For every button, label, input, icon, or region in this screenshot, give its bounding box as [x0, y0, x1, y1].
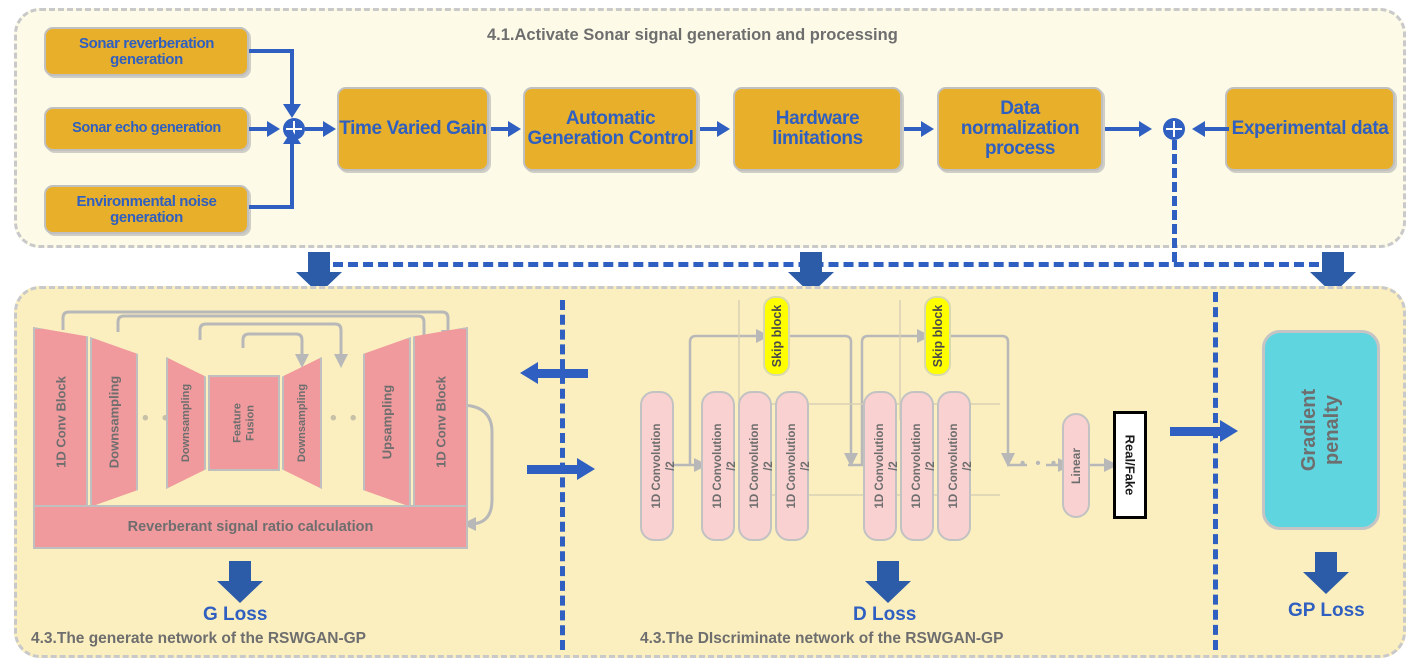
link-exp-to-sum [1205, 127, 1229, 131]
discriminator-conv-7[interactable]: 1D Convolution /2 [937, 391, 971, 541]
link-tvg-to-agc-arrowhead [508, 121, 521, 137]
discriminator-skip-block-1[interactable]: Skip block [763, 296, 790, 376]
summation-node-right [1163, 118, 1185, 140]
discriminator-linear-block[interactable]: Linear [1062, 413, 1090, 518]
link-norm-to-sum-arrowhead [1139, 121, 1152, 137]
link-reverb-arrowhead [283, 104, 301, 118]
generator-caption: 4.3.The generate network of the RSWGAN-G… [31, 630, 366, 648]
experimental-data-box[interactable]: Experimental data [1225, 87, 1395, 171]
discriminator-conv-4[interactable]: 1D Convolution /2 [775, 391, 809, 541]
pipeline-box-hardware-limitations[interactable]: Hardware limitations [733, 87, 902, 171]
pipeline-box-data-normalization[interactable]: Data normalization process [937, 87, 1103, 171]
generator-block-downsampling-1[interactable]: Downsampling [90, 337, 138, 507]
reverberant-ratio-bar[interactable]: Reverberant signal ratio calculation [33, 505, 468, 549]
gradient-penalty-box[interactable]: Gradient penalty [1262, 330, 1380, 530]
link-echo-arrowhead [267, 121, 280, 137]
bus-vertical-from-sum [1172, 140, 1177, 262]
discriminator-conv-3[interactable]: 1D Convolution /2 [738, 391, 772, 541]
discriminator-conv-5[interactable]: 1D Convolution /2 [863, 391, 897, 541]
generator-block-downsampling-2[interactable]: Downsampling [166, 357, 206, 489]
generator-block-feature-fusion[interactable]: Feature Fusion [208, 375, 280, 471]
divider-generator-discriminator [560, 300, 565, 650]
g-loss-label: G Loss [203, 604, 267, 626]
link-noise-v [290, 143, 294, 209]
link-echo-h [249, 127, 269, 131]
generator-block-upsampling[interactable]: Upsampling [363, 337, 411, 507]
discriminator-output-realfake[interactable]: Real/Fake [1113, 411, 1147, 519]
diagram-canvas: 4.1.Activate Sonar signal generation and… [0, 0, 1417, 666]
generator-block-1d-conv-left[interactable]: 1D Conv Block [33, 327, 88, 517]
discriminator-caption: 4.3.The DIscriminate network of the RSWG… [640, 630, 1003, 648]
source-box-sonar-echo[interactable]: Sonar echo generation [44, 107, 249, 151]
generator-block-1d-conv-right[interactable]: 1D Conv Block [413, 327, 468, 517]
link-noise-arrowhead [283, 130, 301, 144]
pipeline-box-automatic-generation-control[interactable]: Automatic Generation Control [523, 87, 698, 171]
discriminator-conv-1[interactable]: 1D Convolution /2 [640, 391, 674, 541]
bus-horizontal [318, 262, 1334, 267]
gp-loss-label: GP Loss [1288, 600, 1365, 622]
source-box-environmental-noise[interactable]: Environmental noise generation [44, 185, 249, 234]
top-panel-title: 4.1.Activate Sonar signal generation and… [487, 26, 898, 45]
link-norm-to-sum [1105, 127, 1141, 131]
link-exp-to-sum-arrowhead [1192, 121, 1205, 137]
pipeline-box-time-varied-gain[interactable]: Time Varied Gain [337, 87, 489, 171]
link-noise-h [249, 205, 293, 209]
d-loss-label: D Loss [853, 604, 916, 626]
link-sum-to-tvg [305, 127, 325, 131]
link-hw-to-norm-arrowhead [921, 121, 934, 137]
link-reverb-h [249, 49, 293, 53]
generator-block-downsampling-3[interactable]: Downsampling [282, 357, 322, 489]
discriminator-ellipsis: • • • [1020, 455, 1059, 472]
discriminator-conv-6[interactable]: 1D Convolution /2 [900, 391, 934, 541]
source-box-sonar-reverberation[interactable]: Sonar reverberation generation [44, 27, 249, 76]
divider-discriminator-gp [1213, 292, 1218, 650]
link-sum-to-tvg-arrowhead [323, 121, 336, 137]
link-reverb-v [290, 49, 294, 107]
discriminator-skip-block-2[interactable]: Skip block [924, 296, 951, 376]
link-agc-to-hw-arrowhead [717, 121, 730, 137]
discriminator-conv-2[interactable]: 1D Convolution /2 [701, 391, 735, 541]
